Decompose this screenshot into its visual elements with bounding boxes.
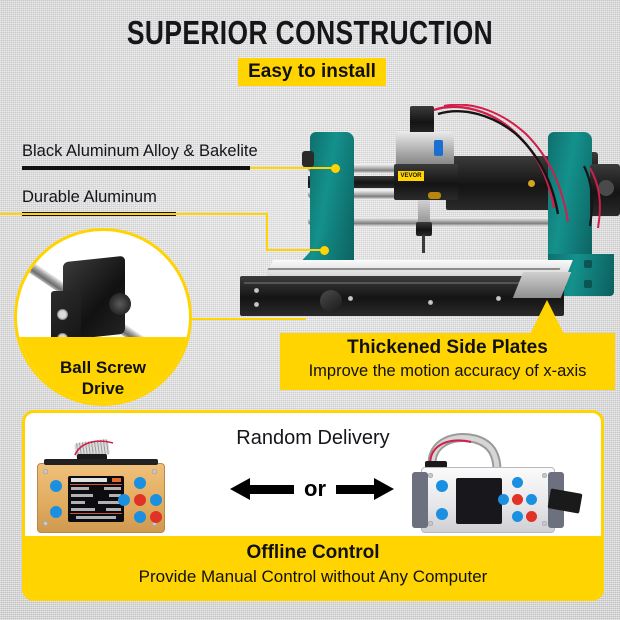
leader-line-bottom-horizontal (0, 213, 268, 215)
page-title: SUPERIOR CONSTRUCTION (62, 16, 558, 50)
bed-groove-1 (268, 268, 561, 270)
right-button-blue-5[interactable] (526, 494, 537, 505)
offline-controller-right[interactable] (421, 467, 555, 533)
left-button-blue-3[interactable] (134, 477, 146, 489)
left-screw-bl (43, 521, 48, 526)
right-screw-tr (542, 473, 547, 478)
frame-screw-5 (496, 296, 501, 301)
right-button-red-2[interactable] (526, 511, 537, 522)
left-button-red-2[interactable] (150, 511, 162, 523)
left-screw-tr (152, 469, 157, 474)
offline-control-panel: Random Delivery (22, 410, 604, 601)
callout-subtitle: Improve the motion accuracy of x-axis (280, 362, 615, 381)
callout-title: Thickened Side Plates (280, 337, 615, 359)
right-arrow-shaft (336, 485, 376, 494)
inset-caption-line2: Drive (17, 378, 189, 399)
frame-edge-highlight (244, 282, 564, 284)
flange-hole-1 (57, 309, 68, 320)
lcd-coordinates (76, 516, 116, 519)
left-button-blue-4[interactable] (118, 494, 130, 506)
frame-screw-2 (254, 302, 259, 307)
right-button-red-1[interactable] (512, 494, 523, 505)
leader-line-top (250, 167, 334, 169)
bearing-bore (109, 293, 131, 315)
right-button-blue-1[interactable] (436, 480, 448, 492)
left-board-header (44, 459, 158, 465)
inset-caption-line1: Ball Screw (17, 357, 189, 378)
left-plate-bearing (302, 151, 314, 167)
lcd-row-2-label (71, 494, 93, 497)
leader-dot-top (331, 164, 340, 173)
infographic-root: SUPERIOR CONSTRUCTION Easy to install (0, 0, 620, 620)
or-selector: or (240, 473, 390, 507)
leader-line-bottom-vertical (266, 213, 268, 251)
frame-screw-4 (428, 300, 433, 305)
right-button-blue-3[interactable] (512, 477, 523, 488)
footer-title: Offline Control (25, 542, 601, 564)
left-button-blue-6[interactable] (134, 511, 146, 523)
left-button-blue-2[interactable] (50, 506, 62, 518)
end-mill-bit (422, 235, 425, 253)
left-controller-lcd (68, 476, 124, 522)
offline-controller-left[interactable] (37, 463, 165, 533)
left-button-red-1[interactable] (134, 494, 146, 506)
left-button-blue-1[interactable] (50, 480, 62, 492)
lcd-row-1-label (71, 487, 89, 490)
lcd-row-3-label (71, 501, 85, 504)
label-black-aluminum-alloy-bakelite: Black Aluminum Alloy & Bakelite (22, 142, 258, 161)
right-controller-cable (417, 431, 507, 471)
adjustment-knob (320, 290, 342, 312)
panel-footer: Offline Control Provide Manual Control w… (25, 536, 601, 598)
left-button-blue-5[interactable] (150, 494, 162, 506)
callout-pointer (530, 300, 564, 334)
easy-to-install-badge: Easy to install (238, 58, 386, 86)
lcd-title (71, 478, 107, 482)
lcd-rule-bottom (70, 513, 122, 514)
right-button-blue-2[interactable] (436, 508, 448, 520)
label-durable-aluminum: Durable Aluminum (22, 188, 157, 207)
right-button-blue-4[interactable] (498, 494, 509, 505)
inset-caption: Ball Screw Drive (17, 357, 189, 399)
lcd-row-4-label (71, 508, 95, 511)
lcd-row-1-value (104, 487, 121, 490)
leader-dot-bottom (320, 246, 329, 255)
lcd-status (112, 478, 121, 482)
leader-line-bottom-tail (266, 249, 324, 251)
right-screw-tl (428, 473, 433, 478)
right-arrow-head (374, 478, 394, 500)
cnc-machine-illustration: VEVOR (228, 104, 620, 316)
label-underline-top (22, 166, 250, 170)
left-screw-tl (43, 469, 48, 474)
wire-harness (378, 104, 620, 234)
plate-bolt-b (584, 260, 592, 268)
right-screw-br (542, 521, 547, 526)
lcd-row-4-value (106, 508, 121, 511)
ball-screw-inset: Ball Screw Drive (14, 228, 192, 406)
right-board-side-left (412, 472, 428, 528)
lcd-rule-top (70, 484, 122, 485)
footer-subtitle: Provide Manual Control without Any Compu… (25, 567, 601, 587)
left-cable-wires (73, 439, 117, 459)
frame-screw-1 (254, 288, 259, 293)
plate-bolt-d (584, 280, 592, 288)
right-button-blue-6[interactable] (512, 511, 523, 522)
right-controller-lcd (456, 478, 502, 524)
frame-screw-3 (348, 296, 353, 301)
callout-thickened-side-plates: Thickened Side Plates Improve the motion… (280, 333, 615, 390)
inset-leader-line (186, 318, 306, 320)
right-screw-bl (428, 521, 433, 526)
